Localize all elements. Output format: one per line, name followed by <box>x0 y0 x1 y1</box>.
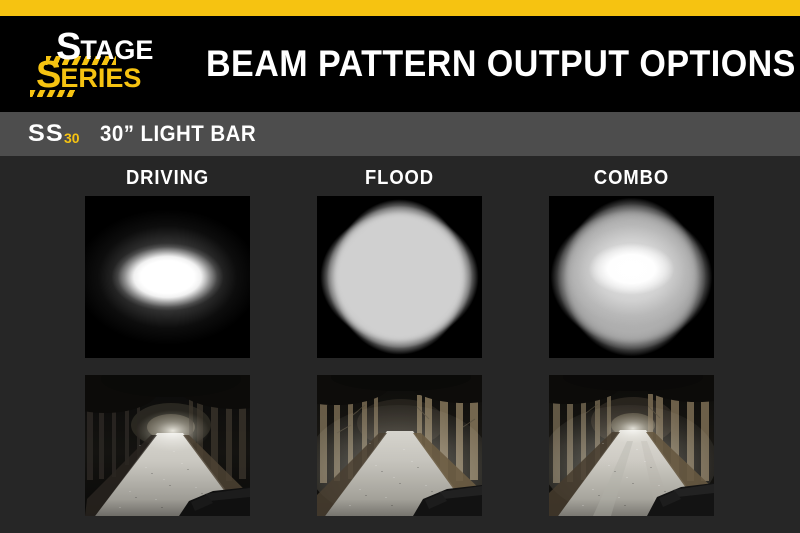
top-accent-bar <box>0 0 800 16</box>
ss30-badge: SS 30 <box>28 120 80 148</box>
ss-badge-number: 30 <box>64 130 80 146</box>
header-bar: STAGE SERIES BEAM PATTERN OUTPUT OPTIONS <box>0 16 800 112</box>
column-title-flood: FLOOD <box>324 156 476 196</box>
subheader-bar: SS 30 30” LIGHT BAR <box>0 112 800 156</box>
product-label: 30” LIGHT BAR <box>100 121 256 147</box>
beam-glow-flood <box>317 196 482 358</box>
road-photo-flood <box>317 375 482 516</box>
road-photo-driving <box>85 375 250 516</box>
road-scene-driving-svg <box>85 375 250 516</box>
stage-series-logo: STAGE SERIES <box>22 28 182 100</box>
road-scene-combo-svg <box>549 375 714 516</box>
road-scene-flood-svg <box>317 375 482 516</box>
column-combo: COMBO <box>549 156 714 516</box>
logo-line-series: SERIES <box>36 58 141 95</box>
beam-glow-driving <box>85 196 250 358</box>
road-photo-combo <box>549 375 714 516</box>
beam-pattern-driving <box>85 196 250 358</box>
ss-badge-text: SS <box>28 120 64 148</box>
logo-series-capital: S <box>36 58 60 92</box>
beam-pattern-combo <box>549 196 714 358</box>
column-title-driving: DRIVING <box>92 156 244 196</box>
column-flood: FLOOD <box>317 156 482 516</box>
logo-series-rest: ERIES <box>60 61 141 95</box>
beam-comparison-grid: DRIVING <box>0 156 800 533</box>
page-title: BEAM PATTERN OUTPUT OPTIONS <box>206 43 796 85</box>
beam-pattern-flood <box>317 196 482 358</box>
column-title-combo: COMBO <box>556 156 708 196</box>
column-driving: DRIVING <box>85 156 250 516</box>
beam-glow-combo <box>549 196 714 358</box>
beam-pattern-infographic: STAGE SERIES BEAM PATTERN OUTPUT OPTIONS… <box>0 0 800 533</box>
